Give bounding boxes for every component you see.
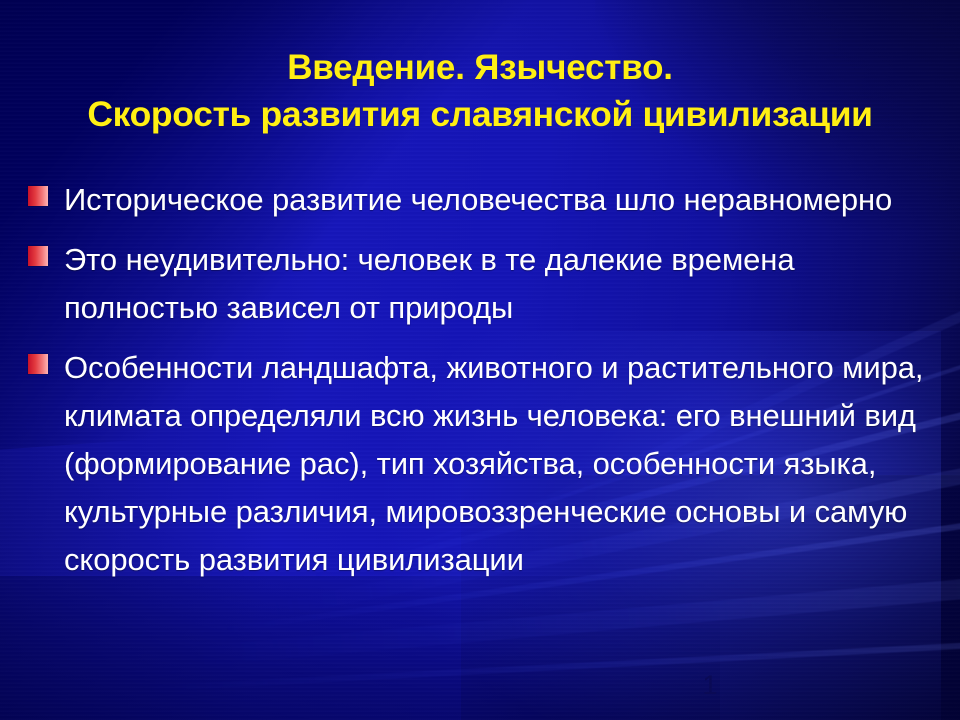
slide-number: 1 xyxy=(690,668,730,702)
list-item-label: Особенности ландшафта, животного и расти… xyxy=(64,344,932,584)
slide-title-line-2: Скорость развития славянской цивилизации xyxy=(0,91,960,138)
list-item: Историческое развитие человечества шло н… xyxy=(28,176,932,224)
bullet-list: Историческое развитие человечества шло н… xyxy=(28,176,932,584)
list-item-label: Историческое развитие человечества шло н… xyxy=(64,176,932,224)
list-item: Это неудивительно: человек в те далекие … xyxy=(28,236,932,332)
list-item-label: Это неудивительно: человек в те далекие … xyxy=(64,236,932,332)
slide-title: Введение. Язычество. Скорость развития с… xyxy=(0,44,960,138)
presentation-slide: Введение. Язычество. Скорость развития с… xyxy=(0,0,960,720)
red-square-bullet-icon xyxy=(28,354,48,374)
red-square-bullet-icon xyxy=(28,186,48,206)
list-item: Особенности ландшафта, животного и расти… xyxy=(28,344,932,584)
slide-content: Введение. Язычество. Скорость развития с… xyxy=(0,0,960,720)
red-square-bullet-icon xyxy=(28,246,48,266)
slide-title-line-1: Введение. Язычество. xyxy=(0,44,960,91)
